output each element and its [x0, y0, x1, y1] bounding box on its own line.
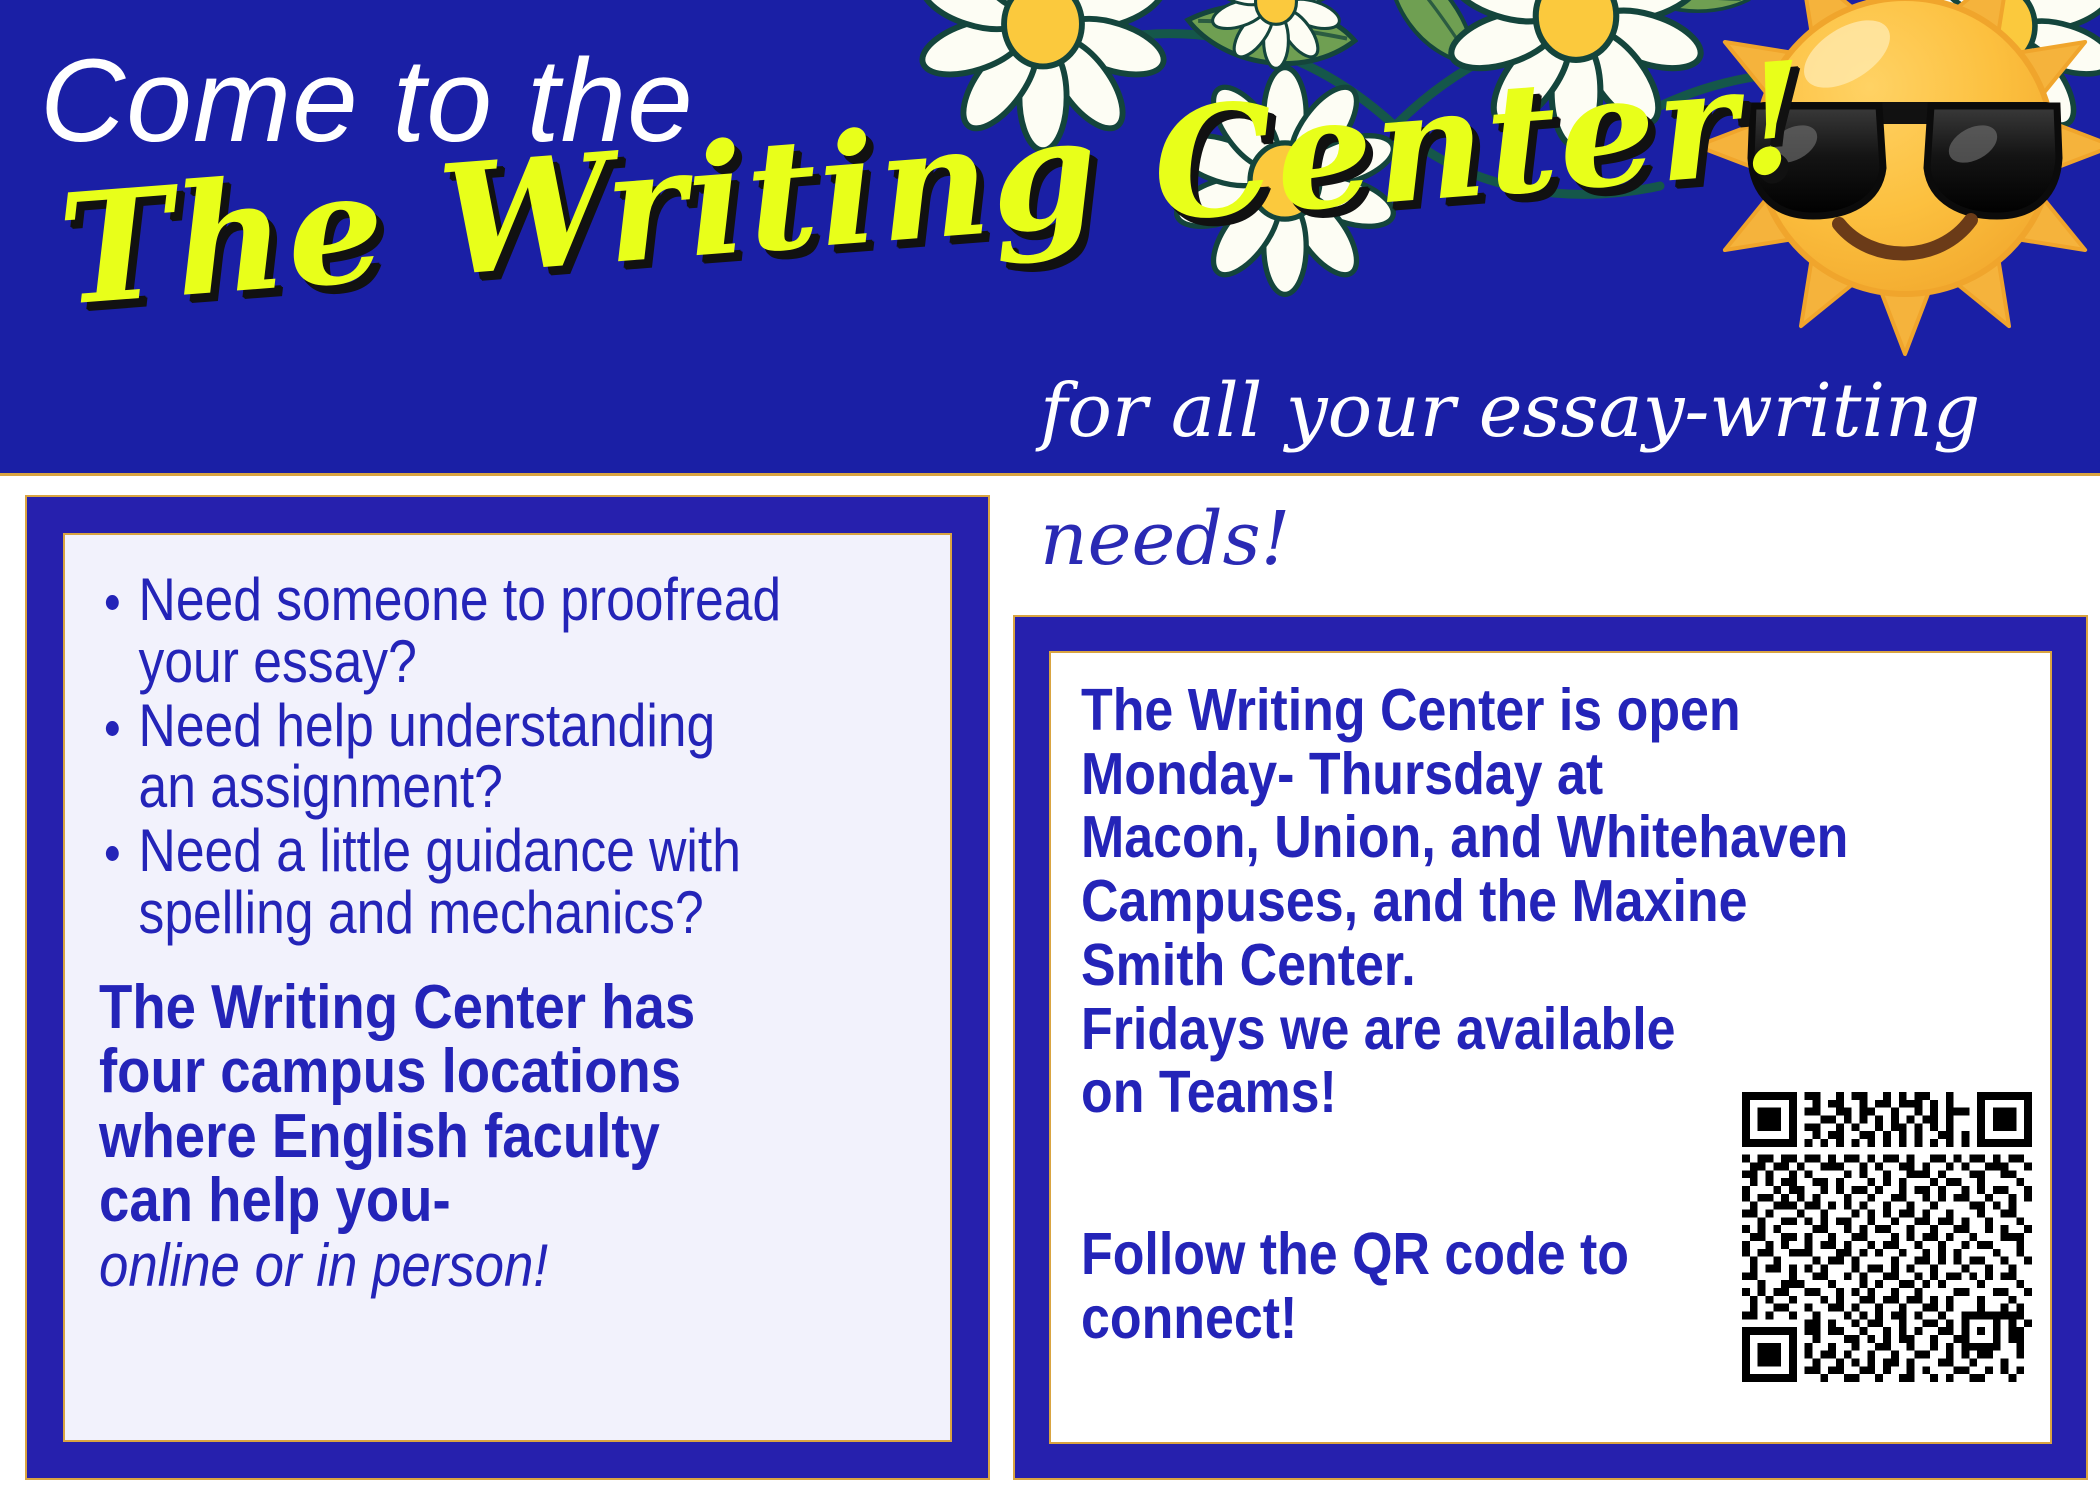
- right-content-panel: The Writing Center is open Monday- Thurs…: [1013, 615, 2088, 1480]
- online-or-in-person-note: online or in person!: [99, 1234, 821, 1297]
- header-banner: Come to the The Writing Center! for all …: [0, 0, 2100, 476]
- campus-locations-statement: The Writing Center has four campus locat…: [99, 976, 821, 1234]
- left-panel-inner: Need someone to proofread your essay? Ne…: [63, 533, 952, 1442]
- left-content-panel: Need someone to proofread your essay? Ne…: [25, 495, 990, 1480]
- list-item: Need someone to proofread your essay?: [99, 569, 805, 693]
- qr-code-image: [1742, 1092, 2032, 1382]
- list-item: Need a little guidance with spelling and…: [99, 820, 805, 944]
- header-line-1: Come to the: [40, 42, 694, 160]
- qr-code[interactable]: [1742, 1092, 2032, 1382]
- poster-canvas: Come to the The Writing Center! for all …: [0, 0, 2100, 1500]
- sun-with-sunglasses-icon: [1697, 0, 2100, 354]
- services-bullet-list: Need someone to proofread your essay? Ne…: [99, 569, 920, 944]
- qr-prompt-text: Follow the QR code to connect!: [1081, 1223, 1629, 1350]
- header-subtitle-line-2: needs!: [1040, 502, 1290, 576]
- daisy-flower-icon: [1444, 0, 1707, 147]
- right-panel-inner: The Writing Center is open Monday- Thurs…: [1049, 651, 2052, 1444]
- list-item: Need help understanding an assignment?: [99, 695, 805, 819]
- header-subtitle-line-1: for all your essay-writing: [1040, 368, 1980, 455]
- daisy-flower-icon: [916, 0, 1171, 150]
- hours-and-locations-text: The Writing Center is open Monday- Thurs…: [1081, 679, 1913, 1125]
